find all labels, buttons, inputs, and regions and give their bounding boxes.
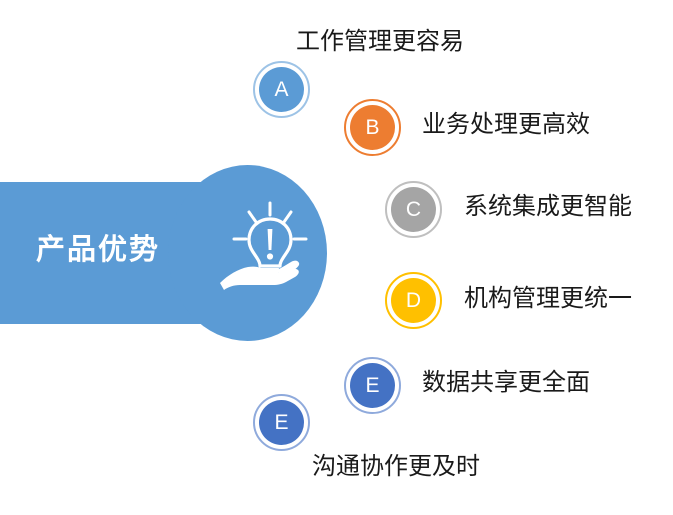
advantage-bullet-3[interactable]: C bbox=[385, 181, 442, 238]
advantage-label-6: 沟通协作更及时 bbox=[312, 455, 480, 479]
bullet-letter: E bbox=[274, 412, 288, 433]
advantage-label-1: 工作管理更容易 bbox=[296, 30, 464, 54]
advantage-bullet-4[interactable]: D bbox=[385, 272, 442, 329]
slide-canvas: 产品优势 A工作管理 bbox=[0, 0, 673, 515]
advantage-label-2: 业务处理更高效 bbox=[422, 113, 590, 137]
advantage-label-4: 机构管理更统一 bbox=[464, 287, 632, 311]
advantage-bullet-2[interactable]: B bbox=[344, 99, 401, 156]
bullet-core: B bbox=[350, 105, 395, 150]
advantage-bullet-5[interactable]: E bbox=[344, 357, 401, 414]
advantage-label-5: 数据共享更全面 bbox=[422, 371, 590, 395]
bullet-letter: B bbox=[365, 117, 379, 138]
advantage-label-3: 系统集成更智能 bbox=[464, 195, 632, 219]
advantage-bullet-1[interactable]: A bbox=[253, 61, 310, 118]
bullet-core: A bbox=[259, 67, 304, 112]
banner-title: 产品优势 bbox=[36, 236, 160, 265]
bullet-core: C bbox=[391, 187, 436, 232]
bullet-letter: A bbox=[274, 79, 288, 100]
bullet-core: E bbox=[259, 400, 304, 445]
advantage-bullet-6[interactable]: E bbox=[253, 394, 310, 451]
hand-holding-lightbulb-icon bbox=[218, 193, 322, 297]
bullet-core: D bbox=[391, 278, 436, 323]
bullet-letter: C bbox=[406, 199, 421, 220]
bullet-core: E bbox=[350, 363, 395, 408]
bullet-letter: E bbox=[365, 375, 379, 396]
bullet-letter: D bbox=[406, 290, 421, 311]
